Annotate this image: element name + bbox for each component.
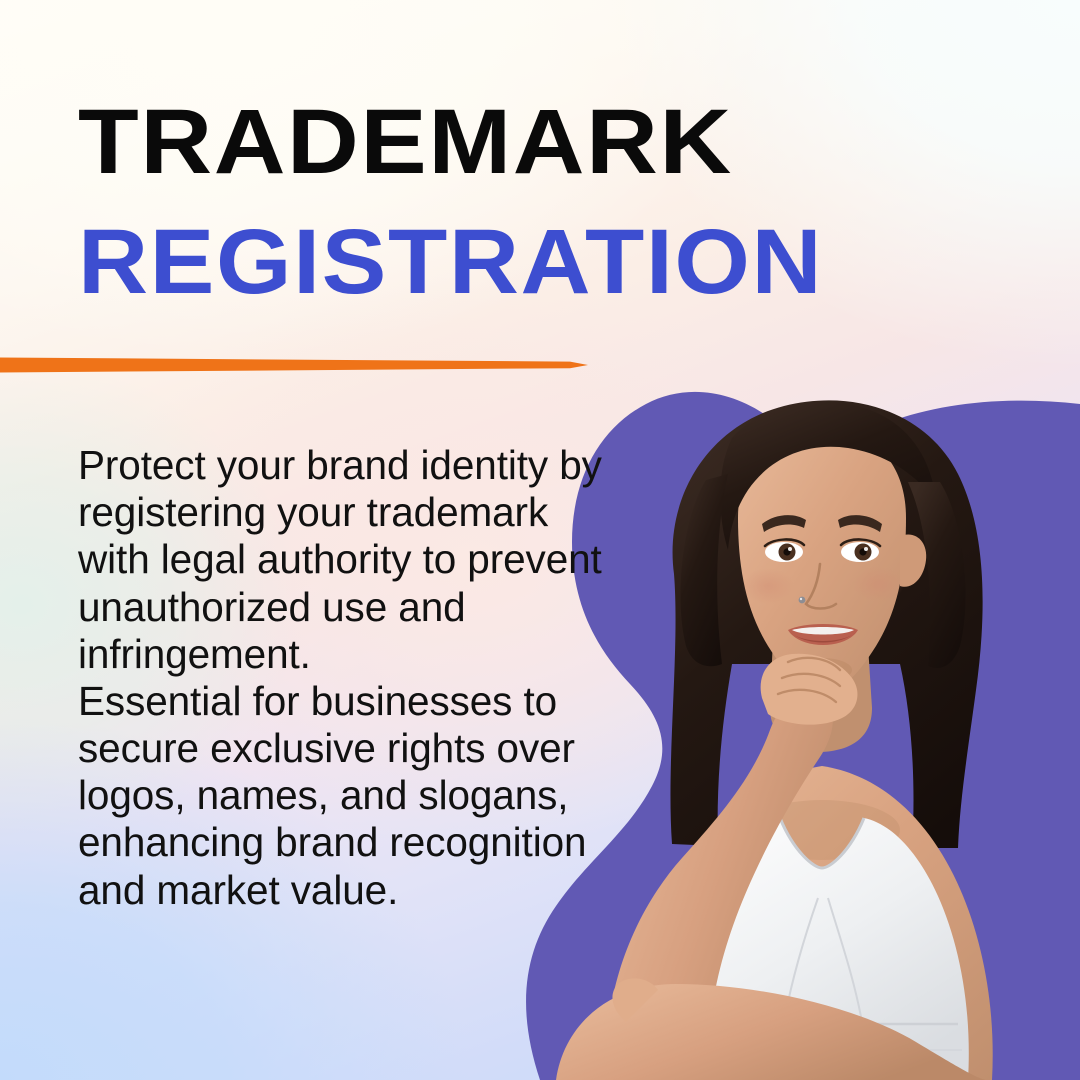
body-paragraph-1: Protect your brand identity by registeri…: [78, 442, 618, 678]
page-title: TRADEMARK REGISTRATION: [78, 96, 958, 310]
headline-line-secondary: REGISTRATION: [78, 216, 1006, 310]
orange-tapered-rule: [0, 352, 600, 378]
smiling-woman-hand-on-chin-photo: [556, 378, 1080, 1080]
headline-line-primary: TRADEMARK: [78, 96, 1028, 190]
body-copy: Protect your brand identity by registeri…: [78, 442, 618, 914]
body-paragraph-2: Essential for businesses to secure exclu…: [78, 678, 618, 914]
promo-poster: TRADEMARK REGISTRATION Protect your bran…: [0, 0, 1080, 1080]
